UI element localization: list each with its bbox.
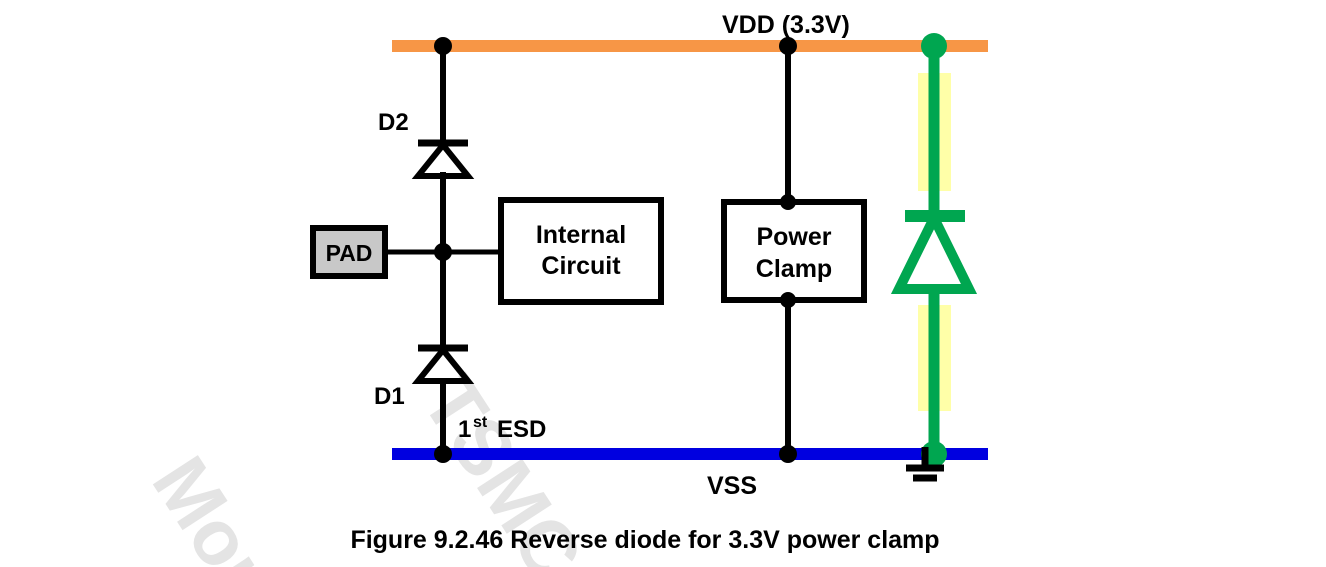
internal-circuit-label-line2: Circuit [541, 252, 621, 280]
esd-stage-label: 1 st ESD [458, 414, 546, 443]
figure-caption: Figure 9.2.46 Reverse diode for 3.3V pow… [350, 526, 939, 554]
power-clamp-branch-group: Power Clamp [724, 37, 864, 463]
esd-stage-number: 1 [458, 416, 471, 443]
pad-box-group[interactable]: PAD [313, 228, 443, 276]
reverse-diode-symbol [899, 216, 969, 289]
power-clamp-label-line2: Clamp [756, 255, 832, 283]
esd-stage-text: ESD [497, 416, 546, 443]
diode-d2-triangle [418, 145, 468, 176]
node-dot-vss-pad [434, 445, 452, 463]
node-dot-vdd-clamp [779, 37, 797, 55]
diode-d1-triangle [418, 350, 468, 381]
diode-d1 [418, 348, 468, 381]
watermark-left-text: Morni [136, 441, 325, 567]
node-dot-vdd-pad [434, 37, 452, 55]
node-dot-vdd-reverse-diode [921, 33, 947, 59]
power-clamp-label-line1: Power [756, 223, 831, 251]
internal-circuit-label-line1: Internal [536, 221, 626, 249]
internal-circuit-box[interactable] [501, 200, 661, 302]
vss-rail-label: VSS [707, 472, 757, 500]
figure-container: Morni TSMC C [0, 0, 1326, 567]
diode-d2-label: D2 [378, 109, 409, 136]
node-dot-vss-clamp [779, 445, 797, 463]
node-dot-clamp-top [780, 194, 796, 210]
internal-circuit-group[interactable]: Internal Circuit [443, 200, 661, 302]
esd-stage-ordinal: st [473, 414, 488, 431]
pad-label: PAD [326, 240, 373, 266]
circuit-diagram-svg: Morni TSMC C [0, 0, 1326, 567]
reverse-diode-triangle [899, 218, 969, 289]
power-clamp-box[interactable] [724, 202, 864, 300]
diode-d1-label: D1 [374, 383, 405, 410]
vdd-rail-label: VDD (3.3V) [722, 11, 850, 39]
node-dot-clamp-bottom [780, 292, 796, 308]
reverse-diode-branch-group [899, 33, 969, 467]
diode-d2 [418, 143, 468, 176]
